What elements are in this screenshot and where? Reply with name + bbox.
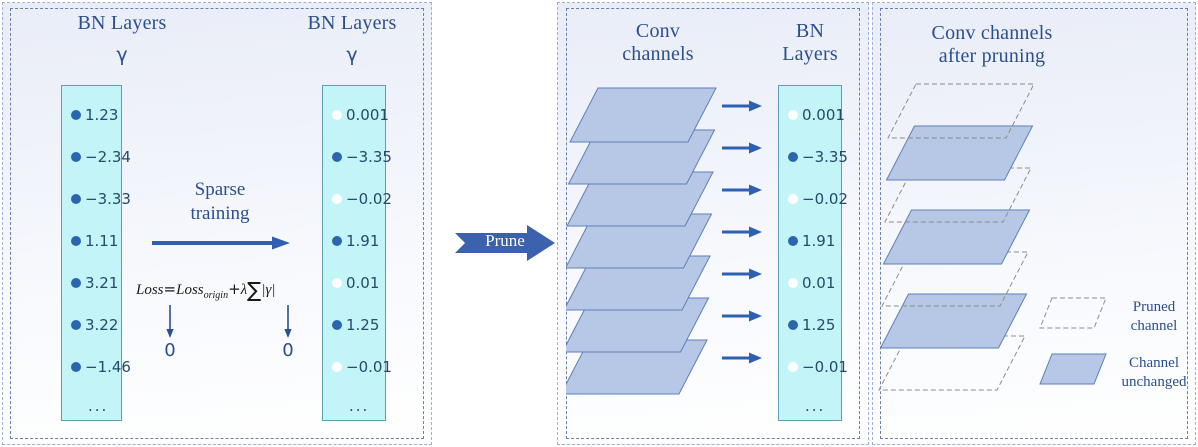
- gamma-before-row: −3.33: [71, 190, 131, 208]
- gamma-after-ellipsis: ...: [349, 397, 369, 415]
- gamma-symbol-after: γ: [252, 44, 452, 66]
- gamma-dot-active-icon: [71, 278, 81, 288]
- gamma-column-before: 1.23−2.34−3.331.113.213.22−1.46...: [61, 85, 122, 421]
- gamma-after-row: −0.02: [332, 190, 392, 208]
- conv-to-bn-arrow-icon: [722, 184, 762, 196]
- conv-to-bn-arrow-icon: [722, 226, 762, 238]
- limit-arrow-left-icon: [165, 305, 175, 339]
- gamma-mid-value: 1.91: [802, 232, 835, 250]
- gamma-before-value: 3.21: [85, 274, 118, 292]
- loss-plus: +: [228, 280, 241, 298]
- heading-bn-layers-after: BN Layers: [252, 12, 452, 35]
- gamma-dot-pruned-icon: [332, 110, 342, 120]
- gamma-before-row: 1.11: [71, 232, 118, 250]
- heading-bn-layers-before: BN Layers: [22, 12, 222, 35]
- gamma-before-value: −1.46: [85, 358, 131, 376]
- gamma-mid-row: 1.91: [788, 232, 835, 250]
- legend-kept-swatch-icon: [1038, 352, 1108, 386]
- gamma-mid-row: 0.001: [788, 106, 845, 124]
- gamma-column-after: 0.001−3.35−0.021.910.011.25−0.01...: [322, 85, 386, 421]
- gamma-dot-active-icon: [71, 362, 81, 372]
- gamma-dot-pruned-icon: [332, 194, 342, 204]
- gamma-dot-active-icon: [332, 236, 342, 246]
- gamma-dot-active-icon: [71, 320, 81, 330]
- conv-channel-kept: [884, 210, 1030, 264]
- heading-conv-channels: Conv channels: [588, 20, 728, 66]
- gamma-dot-pruned-icon: [788, 110, 798, 120]
- sparse-training-label: Sparse training: [160, 178, 280, 226]
- legend-pruned-swatch-icon: [1038, 296, 1108, 330]
- gamma-before-row: −1.46: [71, 358, 131, 376]
- gamma-after-value: 1.91: [346, 232, 379, 250]
- legend-kept-label: Channel unchanged: [1114, 354, 1194, 392]
- gamma-dot-pruned-icon: [788, 362, 798, 372]
- gamma-column-mid: 0.001−3.35−0.021.910.011.25−0.01...: [778, 85, 842, 421]
- gamma-mid-value: −0.02: [802, 190, 848, 208]
- gamma-mid-row: 1.25: [788, 316, 835, 334]
- conv-to-bn-arrow-icon: [722, 268, 762, 280]
- gamma-before-value: −3.33: [85, 190, 131, 208]
- gamma-dot-active-icon: [332, 320, 342, 330]
- gamma-before-value: 1.23: [85, 106, 118, 124]
- gamma-before-value: 3.22: [85, 316, 118, 334]
- conv-channel-stack: [566, 82, 726, 407]
- pruned-channel-stack: [878, 78, 1038, 408]
- gamma-after-row: −0.01: [332, 358, 392, 376]
- gamma-after-row: 0.001: [332, 106, 389, 124]
- conv-to-bn-arrow-icon: [722, 142, 762, 154]
- conv-to-bn-arrow-icon: [722, 352, 762, 364]
- conv-channel-kept: [887, 126, 1033, 180]
- loss-rhs-base: Loss: [176, 282, 204, 298]
- gamma-mid-value: 1.25: [802, 316, 835, 334]
- gamma-dot-active-icon: [71, 236, 81, 246]
- conv-to-bn-arrow-icon: [722, 100, 762, 112]
- gamma-dot-active-icon: [788, 236, 798, 246]
- gamma-dot-active-icon: [71, 110, 81, 120]
- gamma-after-row: 1.91: [332, 232, 379, 250]
- gamma-mid-row: −3.35: [788, 148, 848, 166]
- gamma-after-row: 0.01: [332, 274, 379, 292]
- loss-rhs-sub: origin: [204, 290, 228, 301]
- gamma-dot-active-icon: [332, 152, 342, 162]
- gamma-before-row: 3.21: [71, 274, 118, 292]
- gamma-before-row: −2.34: [71, 148, 131, 166]
- gamma-mid-row: 0.01: [788, 274, 835, 292]
- gamma-dot-pruned-icon: [332, 362, 342, 372]
- gamma-after-value: 1.25: [346, 316, 379, 334]
- loss-abs-gamma: |γ|: [261, 282, 275, 298]
- gamma-before-row: 3.22: [71, 316, 118, 334]
- gamma-after-value: −3.35: [346, 148, 392, 166]
- loss-lhs: Loss: [136, 282, 164, 298]
- loss-formula: Loss=Lossorigin+λ∑|γ|: [136, 278, 306, 302]
- gamma-after-value: 0.01: [346, 274, 379, 292]
- figure-canvas: BN Layers γ 1.23−2.34−3.331.113.213.22−1…: [0, 0, 1198, 447]
- heading-conv-after-pruning: Conv channels after pruning: [892, 22, 1092, 68]
- gamma-before-row: 1.23: [71, 106, 118, 124]
- gamma-after-row: 1.25: [332, 316, 379, 334]
- gamma-mid-value: 0.01: [802, 274, 835, 292]
- limit-zero-right: 0: [278, 340, 298, 361]
- gamma-before-value: 1.11: [85, 232, 118, 250]
- gamma-dot-active-icon: [788, 152, 798, 162]
- prune-label: Prune: [455, 231, 555, 251]
- gamma-dot-pruned-icon: [788, 194, 798, 204]
- limit-zero-left: 0: [160, 340, 180, 361]
- gamma-mid-value: −0.01: [802, 358, 848, 376]
- conv-channel-kept: [881, 294, 1027, 348]
- gamma-after-row: −3.35: [332, 148, 392, 166]
- gamma-mid-row: −0.01: [788, 358, 848, 376]
- gamma-dot-active-icon: [71, 152, 81, 162]
- limit-arrow-right-icon: [283, 305, 293, 339]
- gamma-mid-value: −3.35: [802, 148, 848, 166]
- gamma-mid-value: 0.001: [802, 106, 845, 124]
- gamma-after-value: −0.02: [346, 190, 392, 208]
- gamma-after-value: 0.001: [346, 106, 389, 124]
- gamma-dot-pruned-icon: [788, 278, 798, 288]
- gamma-mid-row: −0.02: [788, 190, 848, 208]
- gamma-before-value: −2.34: [85, 148, 131, 166]
- loss-equals: =: [164, 280, 177, 298]
- sparse-training-arrow-icon: [152, 236, 290, 250]
- gamma-after-value: −0.01: [346, 358, 392, 376]
- gamma-before-ellipsis: ...: [88, 397, 108, 415]
- gamma-dot-active-icon: [788, 320, 798, 330]
- gamma-symbol-before: γ: [22, 44, 222, 66]
- conv-to-bn-arrow-icon: [722, 310, 762, 322]
- gamma-mid-ellipsis: ...: [805, 397, 825, 415]
- heading-bn-layers-mid: BN Layers: [760, 20, 860, 66]
- gamma-dot-active-icon: [71, 194, 81, 204]
- loss-sum-icon: ∑: [247, 278, 261, 302]
- gamma-dot-pruned-icon: [332, 278, 342, 288]
- legend-pruned-label: Pruned channel: [1114, 298, 1194, 336]
